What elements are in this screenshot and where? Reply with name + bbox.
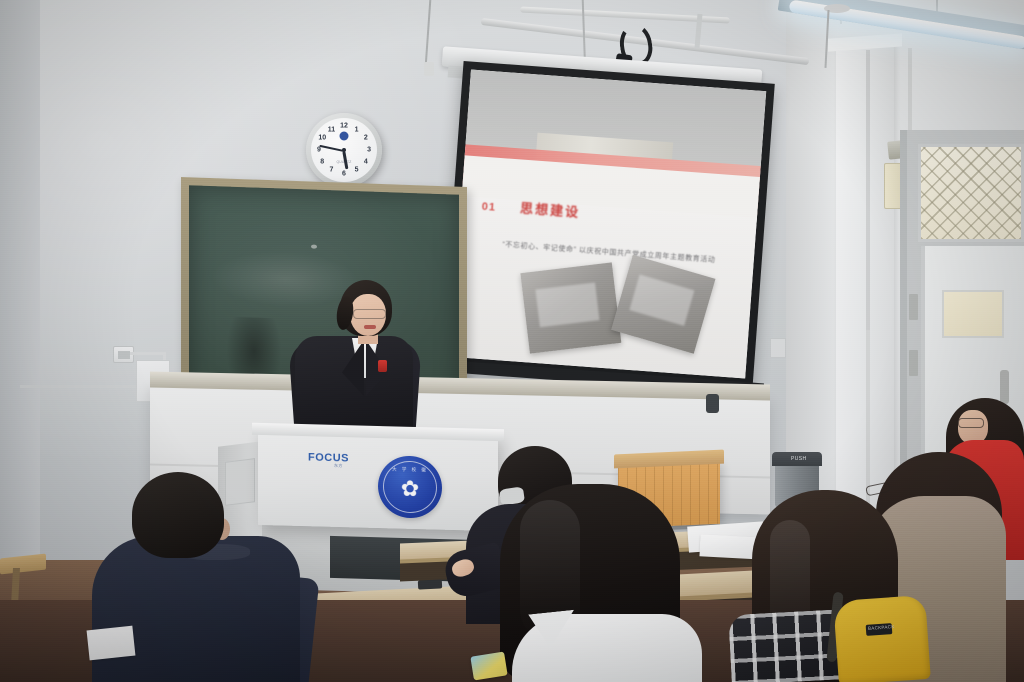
student-front-left-head — [132, 472, 224, 558]
clock-center-pin — [342, 148, 346, 152]
university-emblem: 大 学 校 徽 ✿ — [378, 455, 442, 519]
presenter-glasses-icon — [353, 309, 386, 319]
wall-clock: 12 1 2 3 4 5 6 7 8 9 10 11 QUARTZ — [306, 113, 382, 187]
clock-numeral: 12 — [340, 123, 348, 130]
glasses-icon — [958, 418, 984, 428]
emblem-flame-icon: ✿ — [401, 478, 419, 500]
trash-bin-label: PUSH — [791, 456, 807, 462]
clock-numeral: 5 — [355, 167, 359, 174]
outlet-socket-icon — [118, 351, 130, 359]
thumbnail-inner — [629, 275, 694, 327]
wall-pillar — [836, 40, 894, 510]
pillar-groove — [866, 50, 870, 330]
door-handle[interactable] — [1000, 370, 1009, 404]
door-hinge-icon — [909, 294, 918, 320]
classroom-photo: 01 思想建设 “不忘初心、牢记使命” 以庆祝中国共产党成立周年主题教育活动 1… — [0, 0, 1024, 682]
chalk-mark — [311, 244, 317, 248]
mesh-grid-icon — [921, 147, 1021, 239]
conduit-pipe — [130, 352, 166, 355]
clock-numeral: 2 — [364, 135, 368, 142]
mesh-transom-window — [918, 144, 1024, 242]
clock-numeral: 3 — [367, 147, 371, 154]
clock-numeral: 7 — [330, 167, 334, 174]
paper-sheet — [87, 626, 136, 661]
wire-clip — [424, 62, 434, 76]
lectern-side-panel — [225, 458, 255, 506]
phone-on-desk[interactable] — [418, 579, 442, 589]
clock-face: 12 1 2 3 4 5 6 7 8 9 10 11 QUARTZ — [311, 118, 377, 182]
thumbnail-inner — [535, 282, 600, 328]
presentation-slide: 01 思想建设 “不忘初心、牢记使命” 以庆祝中国共产党成立周年主题教育活动 — [450, 70, 766, 379]
clock-minute-hand — [319, 145, 344, 152]
chalk-smudge — [211, 249, 360, 309]
clock-numeral: 4 — [364, 158, 368, 165]
screen-surface: 01 思想建设 “不忘初心、牢记使命” 以庆祝中国共产党成立周年主题教育活动 — [450, 70, 766, 379]
clock-numeral: 9 — [317, 147, 321, 154]
emblem-ring-text: 大 学 校 徽 — [392, 466, 428, 473]
lectern-brand-sub: 东方 — [334, 463, 343, 469]
yellow-backpack[interactable] — [833, 595, 931, 682]
clock-numeral: 6 — [342, 170, 346, 177]
clock-numeral: 1 — [355, 126, 359, 133]
stage-knob — [706, 394, 719, 413]
projection-screen: 01 思想建设 “不忘初心、牢记使命” 以庆祝中国共产党成立周年主题教育活动 — [441, 61, 775, 389]
clock-numeral: 10 — [318, 135, 326, 142]
slide-section-number: 01 — [481, 200, 496, 213]
wall-plate — [770, 338, 786, 358]
slide-photo-thumbnail — [520, 262, 621, 353]
presenter-red-badge — [378, 360, 387, 372]
door-hinge-icon — [909, 350, 918, 376]
left-wall-edge — [0, 0, 40, 600]
clock-brand-logo-icon — [340, 131, 349, 140]
door-view-window — [942, 290, 1004, 338]
clock-numeral: 11 — [328, 126, 335, 133]
clock-numeral: 8 — [320, 158, 324, 165]
presenter-mouth — [364, 325, 376, 329]
